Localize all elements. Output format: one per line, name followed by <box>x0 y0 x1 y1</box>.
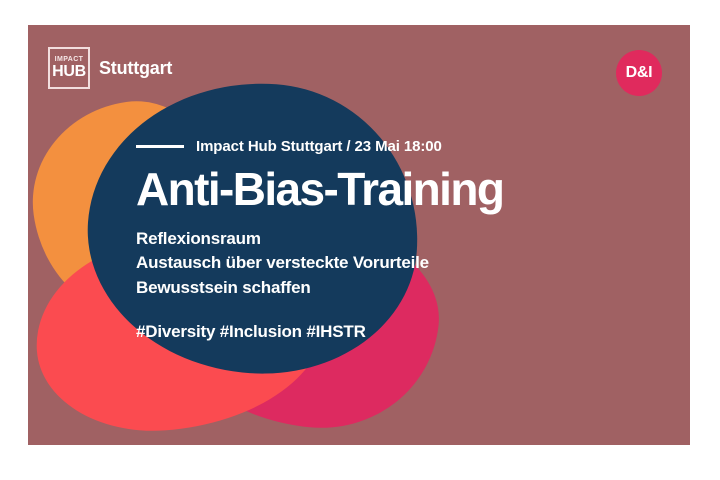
impact-hub-logo: IMPACT HUB Stuttgart <box>48 47 172 89</box>
hashtag-line: #Diversity #Inclusion #IHSTR <box>136 322 656 342</box>
event-meta-row: Impact Hub Stuttgart / 23 Mai 18:00 <box>136 138 656 155</box>
event-highlights-list: Reflexionsraum Austausch über versteckte… <box>136 227 656 299</box>
logo-hub-text: HUB <box>52 64 86 80</box>
logo-city-wordmark: Stuttgart <box>99 58 172 79</box>
badge-label: D&I <box>626 64 653 82</box>
list-item: Bewusstsein schaffen <box>136 276 656 300</box>
event-poster-card: IMPACT HUB Stuttgart D&I Impact Hub Stut… <box>28 25 690 445</box>
event-venue-and-datetime: Impact Hub Stuttgart / 23 Mai 18:00 <box>196 138 442 155</box>
page-title: Anti-Bias-Training <box>136 165 656 213</box>
impact-hub-logo-icon: IMPACT HUB <box>48 47 90 89</box>
diversity-inclusion-badge: D&I <box>616 50 662 96</box>
list-item: Reflexionsraum <box>136 227 656 251</box>
horizontal-rule-decoration <box>136 145 184 148</box>
list-item: Austausch über versteckte Vorurteile <box>136 251 656 275</box>
poster-root: IMPACT HUB Stuttgart D&I Impact Hub Stut… <box>0 0 720 480</box>
poster-content: Impact Hub Stuttgart / 23 Mai 18:00 Anti… <box>136 138 656 342</box>
logo-impact-text: IMPACT <box>55 56 84 63</box>
